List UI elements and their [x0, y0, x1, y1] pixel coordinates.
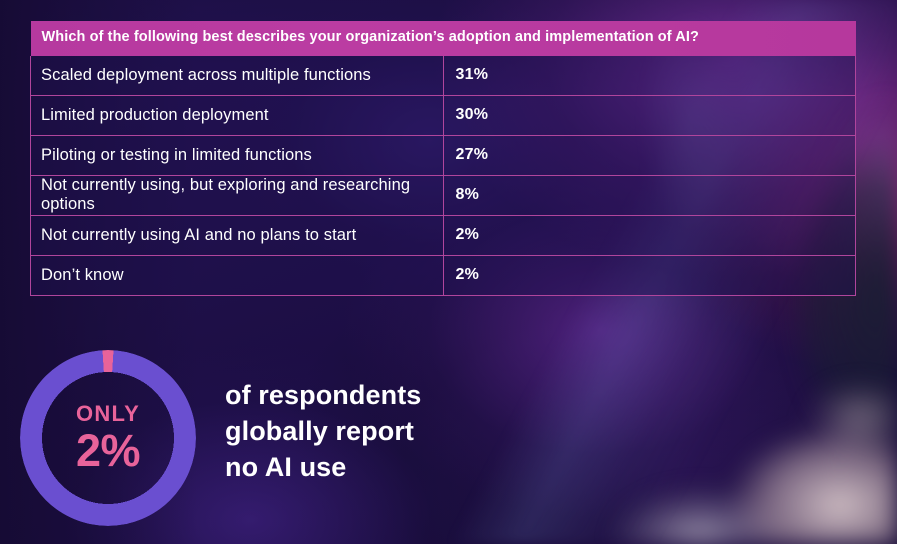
table-row: Limited production deployment 30% [31, 95, 856, 135]
donut-callout: ONLY 2% of respondents globally report n… [20, 350, 500, 525]
table-row: Not currently using, but exploring and r… [31, 175, 856, 215]
option-percent: 8% [443, 175, 856, 215]
option-label: Limited production deployment [31, 95, 444, 135]
donut-center-label: ONLY 2% [20, 350, 196, 526]
question-title: Which of the following best describes yo… [31, 21, 856, 56]
option-label: Scaled deployment across multiple functi… [31, 56, 444, 96]
table-body: Scaled deployment across multiple functi… [31, 56, 856, 296]
survey-results-table: Which of the following best describes yo… [30, 21, 856, 296]
callout-line-1: of respondents [225, 378, 421, 414]
table-header-row: Which of the following best describes yo… [31, 21, 856, 56]
option-percent: 27% [443, 135, 856, 175]
table-row: Don’t know 2% [31, 255, 856, 295]
table-row: Not currently using AI and no plans to s… [31, 215, 856, 255]
table-row: Piloting or testing in limited functions… [31, 135, 856, 175]
option-label: Not currently using, but exploring and r… [31, 175, 444, 215]
option-percent: 30% [443, 95, 856, 135]
option-label: Not currently using AI and no plans to s… [31, 215, 444, 255]
slide-canvas: Which of the following best describes yo… [0, 0, 897, 544]
option-label: Don’t know [31, 255, 444, 295]
option-percent: 2% [443, 255, 856, 295]
callout-line-3: no AI use [225, 450, 421, 486]
table-row: Scaled deployment across multiple functi… [31, 56, 856, 96]
option-label: Piloting or testing in limited functions [31, 135, 444, 175]
callout-caption: of respondents globally report no AI use [225, 378, 421, 486]
callout-line-2: globally report [225, 414, 421, 450]
option-percent: 2% [443, 215, 856, 255]
donut-percent-value: 2% [76, 428, 140, 473]
option-percent: 31% [443, 56, 856, 96]
donut-only-word: ONLY [76, 403, 140, 425]
